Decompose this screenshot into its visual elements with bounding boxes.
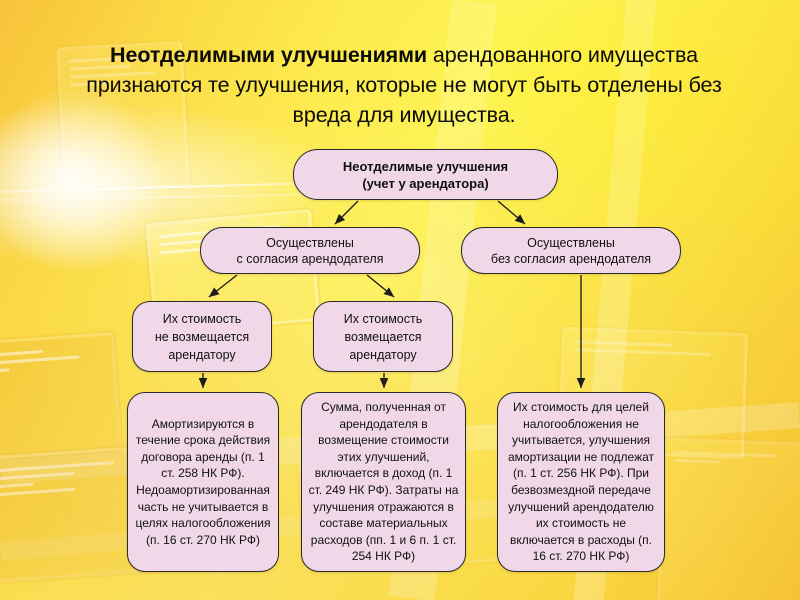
node-not-compensated[interactable]: Их стоимость не возмещается арендатору xyxy=(132,301,272,372)
node-with-consent[interactable]: Осуществлены с согласия арендодателя xyxy=(200,227,420,274)
node-detail-no-deduction-text: Их стоимость для целей налогообложения н… xyxy=(498,399,664,565)
node-not-compensated-line3: арендатору xyxy=(139,346,265,364)
node-without-consent-line1: Осуществлены xyxy=(468,235,674,251)
node-with-consent-line2: с согласия арендодателя xyxy=(207,251,413,267)
node-detail-income-text: Сумма, полученная от арендодателя в возм… xyxy=(302,399,465,565)
node-detail-depreciation-text: Амортизируются в течение срока действия … xyxy=(128,416,278,549)
node-without-consent-line2: без согласия арендодателя xyxy=(468,251,674,267)
edge-root-to-without-consent xyxy=(498,201,525,224)
node-without-consent[interactable]: Осуществлены без согласия арендодателя xyxy=(461,227,681,274)
node-detail-no-deduction[interactable]: Их стоимость для целей налогообложения н… xyxy=(497,392,665,572)
node-compensated-line3: арендатору xyxy=(320,346,446,364)
node-root-line2: (учет у арендатора) xyxy=(300,175,551,192)
node-compensated[interactable]: Их стоимость возмещается арендатору xyxy=(313,301,453,372)
node-not-compensated-line2: не возмещается xyxy=(139,328,265,346)
node-detail-depreciation[interactable]: Амортизируются в течение срока действия … xyxy=(127,392,279,572)
edge-root-to-with-consent xyxy=(335,201,358,224)
slide-canvas: Неотделимыми улучшениями арендованного и… xyxy=(0,0,800,600)
flowchart: Неотделимые улучшения (учет у арендатора… xyxy=(0,0,800,600)
node-detail-income[interactable]: Сумма, полученная от арендодателя в возм… xyxy=(301,392,466,572)
edge-with-consent-to-compensated xyxy=(367,275,394,297)
node-compensated-line1: Их стоимость xyxy=(320,310,446,328)
node-root[interactable]: Неотделимые улучшения (учет у арендатора… xyxy=(293,149,558,200)
node-compensated-line2: возмещается xyxy=(320,328,446,346)
edge-with-consent-to-not-compensated xyxy=(209,275,237,297)
node-with-consent-line1: Осуществлены xyxy=(207,235,413,251)
node-root-line1: Неотделимые улучшения xyxy=(300,158,551,175)
node-not-compensated-line1: Их стоимость xyxy=(139,310,265,328)
